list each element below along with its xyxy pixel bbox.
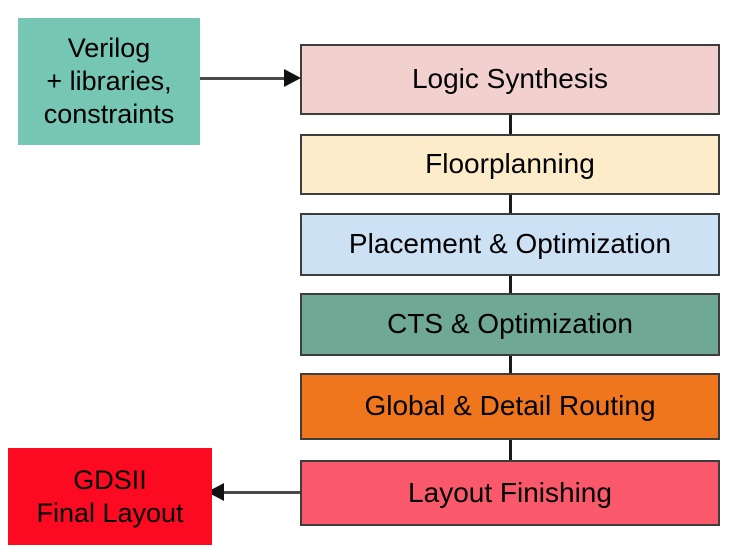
output-arrow-line [224, 491, 300, 494]
stage-label-floorplanning: Floorplanning [425, 147, 595, 181]
stage-label-cts-optimization: CTS & Optimization [387, 307, 633, 341]
stage-label-placement-optimization: Placement & Optimization [349, 227, 671, 261]
connector-cts-to-routing [509, 356, 512, 374]
input-arrow-line [200, 77, 286, 80]
input-arrow-head-icon [284, 69, 301, 87]
connector-placement-to-cts [509, 276, 512, 294]
input-node-verilog[interactable]: Verilog + libraries, constraints [18, 18, 200, 145]
stage-layout-finishing[interactable]: Layout Finishing [300, 460, 720, 526]
stage-floorplanning[interactable]: Floorplanning [300, 134, 720, 195]
stage-placement-optimization[interactable]: Placement & Optimization [300, 213, 720, 276]
flowchart-canvas: Verilog + libraries, constraints Logic S… [0, 0, 746, 558]
stage-label-logic-synthesis: Logic Synthesis [412, 62, 608, 96]
connector-synthesis-to-floorplanning [509, 115, 512, 134]
input-node-label: Verilog + libraries, constraints [44, 32, 175, 131]
stage-logic-synthesis[interactable]: Logic Synthesis [300, 44, 720, 115]
connector-floorplanning-to-placement [509, 195, 512, 214]
stage-cts-optimization[interactable]: CTS & Optimization [300, 293, 720, 356]
output-node-gdsii[interactable]: GDSII Final Layout [8, 448, 212, 545]
stage-label-global-detail-routing: Global & Detail Routing [364, 389, 655, 423]
connector-routing-to-layout-finishing [509, 440, 512, 460]
stage-label-layout-finishing: Layout Finishing [408, 476, 612, 510]
stage-global-detail-routing[interactable]: Global & Detail Routing [300, 373, 720, 440]
output-node-label: GDSII Final Layout [36, 464, 183, 530]
